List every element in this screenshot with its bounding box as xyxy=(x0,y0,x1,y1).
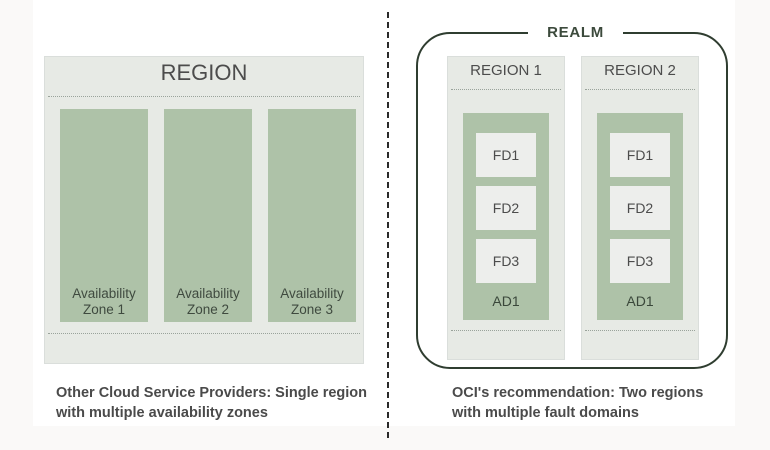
vertical-dashed-divider xyxy=(387,12,389,438)
region-1-top-rule xyxy=(451,89,561,90)
region-2-top-rule xyxy=(585,89,695,90)
right-caption-line2: with multiple fault domains xyxy=(452,405,639,421)
diagram-canvas: REGION Availability Zone 1 Availability … xyxy=(0,0,770,450)
region-2-fd3-label: FD3 xyxy=(627,253,653,269)
availability-zone-3-box: Availability Zone 3 xyxy=(268,109,356,322)
region-1-ad1-label: AD1 xyxy=(463,293,549,309)
region-2-ad1-box: FD1 FD2 FD3 AD1 xyxy=(597,113,683,320)
region-1-bottom-rule xyxy=(451,330,561,331)
availability-zone-2-label: Availability Zone 2 xyxy=(164,286,252,318)
availability-zone-2-box: Availability Zone 2 xyxy=(164,109,252,322)
az2-line2: Zone 2 xyxy=(187,302,229,317)
region-2-fd2-box: FD2 xyxy=(610,186,670,230)
region-2-fd1-box: FD1 xyxy=(610,133,670,177)
realm-label-text: REALM xyxy=(547,24,604,41)
region-2-fd2-label: FD2 xyxy=(627,200,653,216)
availability-zone-3-label: Availability Zone 3 xyxy=(268,286,356,318)
region-1-fd1-label: FD1 xyxy=(493,147,519,163)
region-1-fd2-label: FD2 xyxy=(493,200,519,216)
region-1-fd1-box: FD1 xyxy=(476,133,536,177)
region-1-fd3-label: FD3 xyxy=(493,253,519,269)
region-2-bottom-rule xyxy=(585,330,695,331)
az2-line1: Availability xyxy=(176,286,240,301)
region-1-title: REGION 1 xyxy=(447,62,565,79)
availability-zone-1-box: Availability Zone 1 xyxy=(60,109,148,322)
region-2-title: REGION 2 xyxy=(581,62,699,79)
right-caption: OCI's recommendation: Two regions with m… xyxy=(452,383,770,423)
az3-line2: Zone 3 xyxy=(291,302,333,317)
left-caption-line1: Other Cloud Service Providers: Single re… xyxy=(56,385,367,401)
availability-zone-1-label: Availability Zone 1 xyxy=(60,286,148,318)
left-caption: Other Cloud Service Providers: Single re… xyxy=(56,383,386,423)
left-region-bottom-rule xyxy=(48,333,360,334)
region-1-ad1-box: FD1 FD2 FD3 AD1 xyxy=(463,113,549,320)
az3-line1: Availability xyxy=(280,286,344,301)
realm-label: REALM xyxy=(528,14,623,50)
right-caption-line1: OCI's recommendation: Two regions xyxy=(452,385,703,401)
region-2-fd3-box: FD3 xyxy=(610,239,670,283)
region-1-fd2-box: FD2 xyxy=(476,186,536,230)
region-2-fd1-label: FD1 xyxy=(627,147,653,163)
az1-line1: Availability xyxy=(72,286,136,301)
left-region-top-rule xyxy=(48,96,360,97)
region-1-fd3-box: FD3 xyxy=(476,239,536,283)
region-2-ad1-label: AD1 xyxy=(597,293,683,309)
az1-line2: Zone 1 xyxy=(83,302,125,317)
left-caption-line2: with multiple availability zones xyxy=(56,405,268,421)
left-region-title: REGION xyxy=(44,60,364,86)
